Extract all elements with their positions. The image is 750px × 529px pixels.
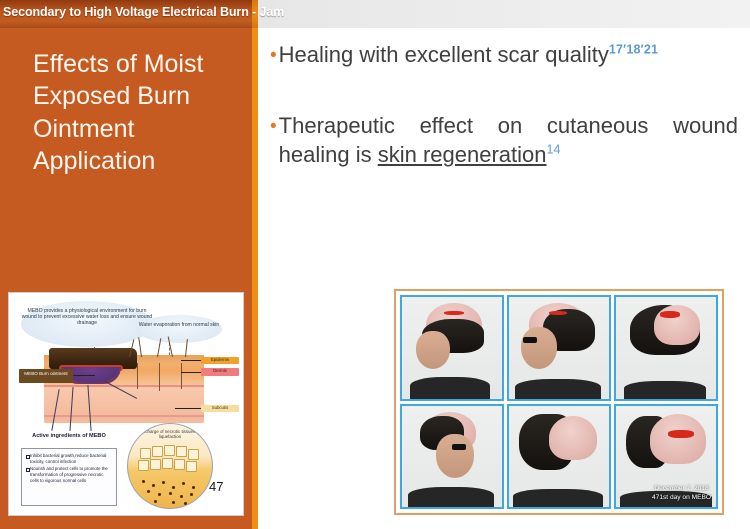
bullet-2-text: Therapeutic effect on cutaneous wound he… [279,111,738,169]
epithelial-cell [174,459,185,470]
dermis-leader [181,372,201,373]
wound-mark [660,311,680,318]
clinical-photo[interactable] [507,404,611,510]
necrotic-particle [169,492,172,495]
dermis-boundary-line [44,385,204,387]
mebo-tag-leader [73,375,95,376]
slide-page-number: 47 [209,479,223,494]
epidermis-label: Epiderms [201,357,239,364]
epithelial-cell [164,445,175,456]
photo-grid-layout: December 7, 2018471st day on MEBO [400,295,718,509]
hair-root-icon [159,363,160,391]
epithelial-cell [150,459,161,470]
ingredient-item: Inhibit bacterial growth,reduce bacteria… [26,453,113,464]
wound-mark [668,430,694,438]
zoom-caption: Discharge of necrotic tissues by liquefa… [136,429,204,440]
necrotic-particle [154,500,157,503]
window-title: Secondary to High Voltage Electrical Bur… [3,5,293,19]
mebo-ointment-tag: MEBO Burn ointment [19,369,73,383]
clinical-photo-grid: December 7, 2018471st day on MEBO [394,289,724,515]
bullet-2-underlined: skin regeneration [378,142,547,167]
hair-root-icon [137,363,138,389]
bullet-dot-icon: • [270,117,277,136]
figure-inner: MEBO provides a physiological environmen… [9,293,243,515]
active-ingredients-box: Inhibit bacterial growth,reduce bacteria… [21,448,117,506]
clinical-photo[interactable] [400,404,504,510]
necrotic-discharge-zoom: Discharge of necrotic tissues by liquefa… [127,423,213,509]
hair-root-icon [181,363,182,389]
necrotic-particle [190,493,193,496]
subcutis-boundary-line [44,415,204,417]
photo-caption: December 7, 2018471st day on MEBO [652,485,711,503]
slide-panel-title: Effects of Moist Exposed Burn Ointment A… [33,48,248,177]
clinical-photo[interactable] [507,295,611,401]
caption-day-count: 471st day on MEBO [652,494,711,501]
epithelial-cell [140,448,151,459]
shirt-region [410,377,490,399]
subcutis-leader [175,408,201,409]
window-titlebar: Secondary to High Voltage Electrical Bur… [0,0,750,28]
epithelial-cell [152,446,163,457]
face-region [521,327,557,369]
privacy-eye-bar [523,337,537,343]
epithelial-cell [188,449,199,460]
bullet-2-superscript: 14 [547,143,561,157]
slide-canvas: Secondary to High Voltage Electrical Bur… [0,0,750,529]
epithelial-cell [186,461,197,472]
wound-mark [549,311,567,315]
necrotic-particle [158,493,161,496]
necrotic-particle [152,484,155,487]
mebo-mechanism-figure: MEBO provides a physiological environmen… [8,292,244,516]
clinical-photo[interactable]: December 7, 2018471st day on MEBO [614,404,718,510]
active-ingredients-body: Inhibit bacterial growth,reduce bacteria… [22,449,116,483]
epithelial-cell [176,446,187,457]
bullet-1-text: Healing with excellent scar quality17′18… [279,40,738,69]
necrotic-particle [182,482,185,485]
scalp-region [549,416,597,460]
necrotic-particle [172,501,175,504]
bullet-list: • Healing with excellent scar quality17′… [270,40,738,169]
clinical-photo[interactable] [614,295,718,401]
left-panel-accent-edge [252,28,258,529]
necrotic-particle [142,480,145,483]
clinical-photo[interactable] [400,295,504,401]
subcutis-label: Subcutis [201,405,239,412]
epithelial-cell [162,458,173,469]
face-region [416,331,450,369]
privacy-eye-bar [452,444,466,450]
necrotic-particle [192,486,195,489]
caption-date: December 7, 2018 [654,485,708,492]
bullet-dot-icon: • [270,46,277,65]
bullet-1-superscript: 17′18′21 [609,43,658,57]
shirt-region [515,379,601,399]
dermis-label: Dermis [201,368,239,376]
necrotic-particle [162,481,165,484]
epidermis-leader [181,360,201,361]
scalp-region [650,414,706,464]
epithelial-cell [138,460,149,471]
necrotic-particle [147,490,150,493]
ingredient-item: Nourish and protect cells to promote the… [26,466,113,483]
necrotic-particle [184,502,187,505]
face-region [436,434,474,478]
bullet-item-1: • Healing with excellent scar quality17′… [270,40,738,69]
bullet-1-body: Healing with excellent scar quality [279,42,609,67]
shirt-region [513,489,603,507]
necrotic-particle [180,495,183,498]
bullet-item-2: • Therapeutic effect on cutaneous wound … [270,111,738,169]
wound-mark [444,311,464,315]
necrotic-particle [172,486,175,489]
active-ingredients-title: Active ingredients of MEBO [21,433,117,440]
shirt-region [408,487,494,507]
callout-water-evaporation: Water evaporation from normal skin [136,315,222,343]
shirt-region [624,381,706,399]
